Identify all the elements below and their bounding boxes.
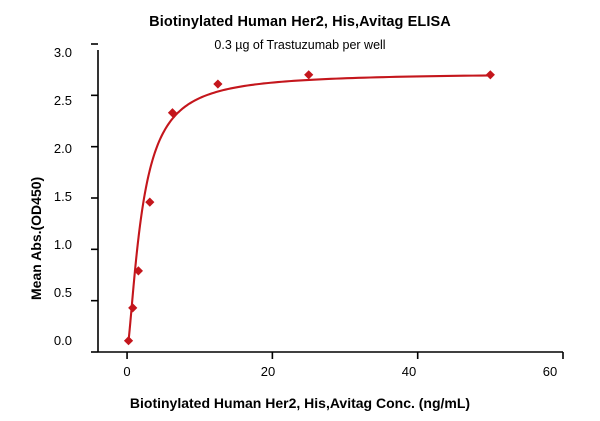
data-point: [128, 303, 137, 312]
plot-area: [0, 0, 600, 421]
data-point: [304, 70, 313, 79]
x-axis-ticks: [127, 352, 563, 359]
data-point: [486, 70, 495, 79]
y-axis-ticks: [91, 44, 98, 352]
data-point: [145, 198, 154, 207]
data-point: [213, 79, 222, 88]
fit-curve: [129, 75, 491, 340]
data-point: [124, 336, 133, 345]
chart-container: Biotinylated Human Her2, His,Avitag ELIS…: [0, 0, 600, 421]
